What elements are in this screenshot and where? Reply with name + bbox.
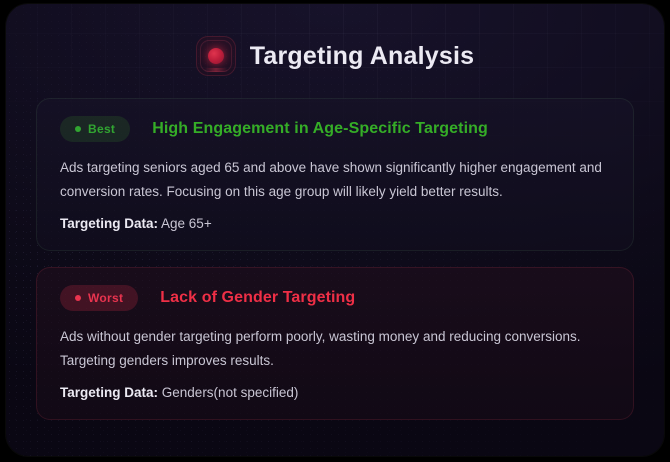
status-dot-green-icon	[75, 126, 81, 132]
status-badge-best: Best	[60, 116, 130, 142]
insight-card-worst: Worst Lack of Gender Targeting Ads witho…	[36, 267, 634, 420]
insight-card-best-meta-value: Age 65+	[161, 216, 212, 231]
status-badge-worst: Worst	[60, 285, 138, 311]
analysis-panel: Targeting Analysis Best High Engagement …	[6, 4, 664, 456]
insight-card-best-description: Ads targeting seniors aged 65 and above …	[60, 156, 610, 204]
insight-card-worst-title: Lack of Gender Targeting	[160, 289, 355, 307]
insight-card-worst-description: Ads without gender targeting perform poo…	[60, 325, 610, 373]
insight-card-worst-meta: Targeting Data: Genders(not specified)	[60, 385, 610, 400]
insight-card-best-meta: Targeting Data: Age 65+	[60, 216, 610, 231]
radar-base-icon	[204, 68, 228, 72]
status-badge-worst-label: Worst	[88, 291, 123, 305]
status-badge-best-label: Best	[88, 122, 115, 136]
insight-card-best: Best High Engagement in Age-Specific Tar…	[36, 98, 634, 251]
status-dot-red-icon	[75, 295, 81, 301]
insight-card-list: Best High Engagement in Age-Specific Tar…	[6, 98, 664, 420]
insight-card-best-header: Best High Engagement in Age-Specific Tar…	[60, 116, 610, 142]
panel-content: Targeting Analysis Best High Engagement …	[6, 4, 664, 456]
panel-header: Targeting Analysis	[6, 4, 664, 76]
insight-card-worst-meta-label: Targeting Data:	[60, 385, 158, 400]
insight-card-worst-meta-value: Genders(not specified)	[162, 385, 299, 400]
insight-card-worst-header: Worst Lack of Gender Targeting	[60, 285, 610, 311]
insight-card-best-meta-label: Targeting Data:	[60, 216, 158, 231]
page-title: Targeting Analysis	[250, 42, 475, 71]
targeting-radar-icon	[196, 36, 236, 76]
insight-card-best-title: High Engagement in Age-Specific Targetin…	[152, 120, 488, 138]
